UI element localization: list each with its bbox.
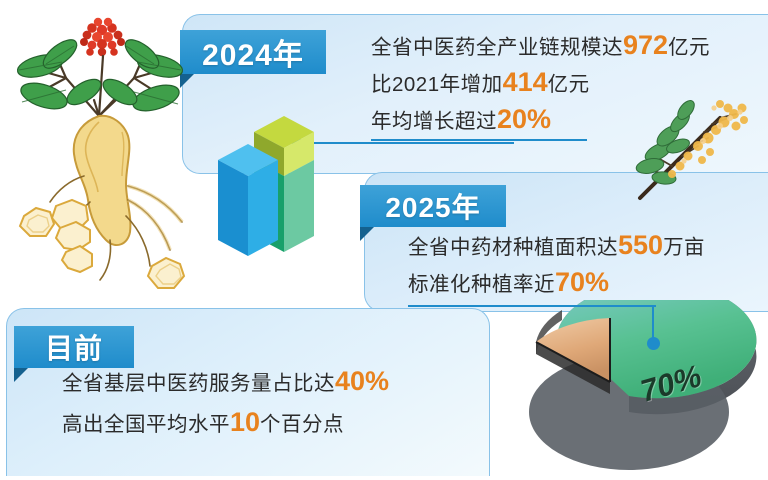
tag-current: 目前 xyxy=(14,326,134,368)
bar-2021 xyxy=(218,144,278,256)
berry-cluster-icon xyxy=(80,18,125,56)
stat-prefix: 年均增长超过 xyxy=(371,110,497,133)
text-block-current: 全省基层中医药服务量占比达40% 高出全国平均水平10个百分点 xyxy=(62,362,389,444)
stat-number: 40% xyxy=(335,366,389,396)
stat-prefix: 比2021年增加 xyxy=(371,73,503,96)
stat-line: 高出全国平均水平10个百分点 xyxy=(62,403,389,444)
underline-2025 xyxy=(408,305,656,307)
stat-line: 全省中药材种植面积达550万亩 xyxy=(408,228,705,265)
stat-suffix: 万亩 xyxy=(663,236,705,259)
underline-2024 xyxy=(371,139,587,141)
stat-suffix: 亿元 xyxy=(668,36,710,59)
bar-chart-3d xyxy=(214,98,344,268)
stat-number: 70% xyxy=(555,267,609,297)
stat-prefix: 高出全国平均水平 xyxy=(62,413,230,436)
callout-line-vertical xyxy=(652,305,654,341)
stat-number: 972 xyxy=(623,30,668,60)
tag-2025: 2025年 xyxy=(360,185,506,227)
stat-line: 全省中医药全产业链规模达972亿元 xyxy=(371,28,710,65)
stat-prefix: 全省基层中医药服务量占比达 xyxy=(62,372,335,395)
callout-dot xyxy=(647,337,660,350)
tag-2024: 2024年 xyxy=(180,30,326,74)
stat-number: 550 xyxy=(618,230,663,260)
stat-line: 全省基层中医药服务量占比达40% xyxy=(62,362,389,403)
stat-suffix: 亿元 xyxy=(548,73,590,96)
stat-suffix: 个百分点 xyxy=(260,413,344,436)
stat-prefix: 全省中药材种植面积达 xyxy=(408,236,618,259)
stat-prefix: 标准化种植率近 xyxy=(408,273,555,296)
stat-number: 20% xyxy=(497,104,551,134)
infographic-canvas: 70% 2024年 2025年 目前 全省中医药全产业链规模达972亿元 比20… xyxy=(0,0,768,480)
stat-prefix: 全省中医药全产业链规模达 xyxy=(371,36,623,59)
pie-chart-3d xyxy=(498,300,760,480)
ginseng-plant-illustration xyxy=(4,4,196,296)
stat-number: 10 xyxy=(230,407,260,437)
flowering-branch-illustration xyxy=(624,74,764,204)
stat-line: 标准化种植率近70% xyxy=(408,265,705,302)
stat-number: 414 xyxy=(503,67,548,97)
text-block-2025: 全省中药材种植面积达550万亩 标准化种植率近70% xyxy=(408,228,705,302)
